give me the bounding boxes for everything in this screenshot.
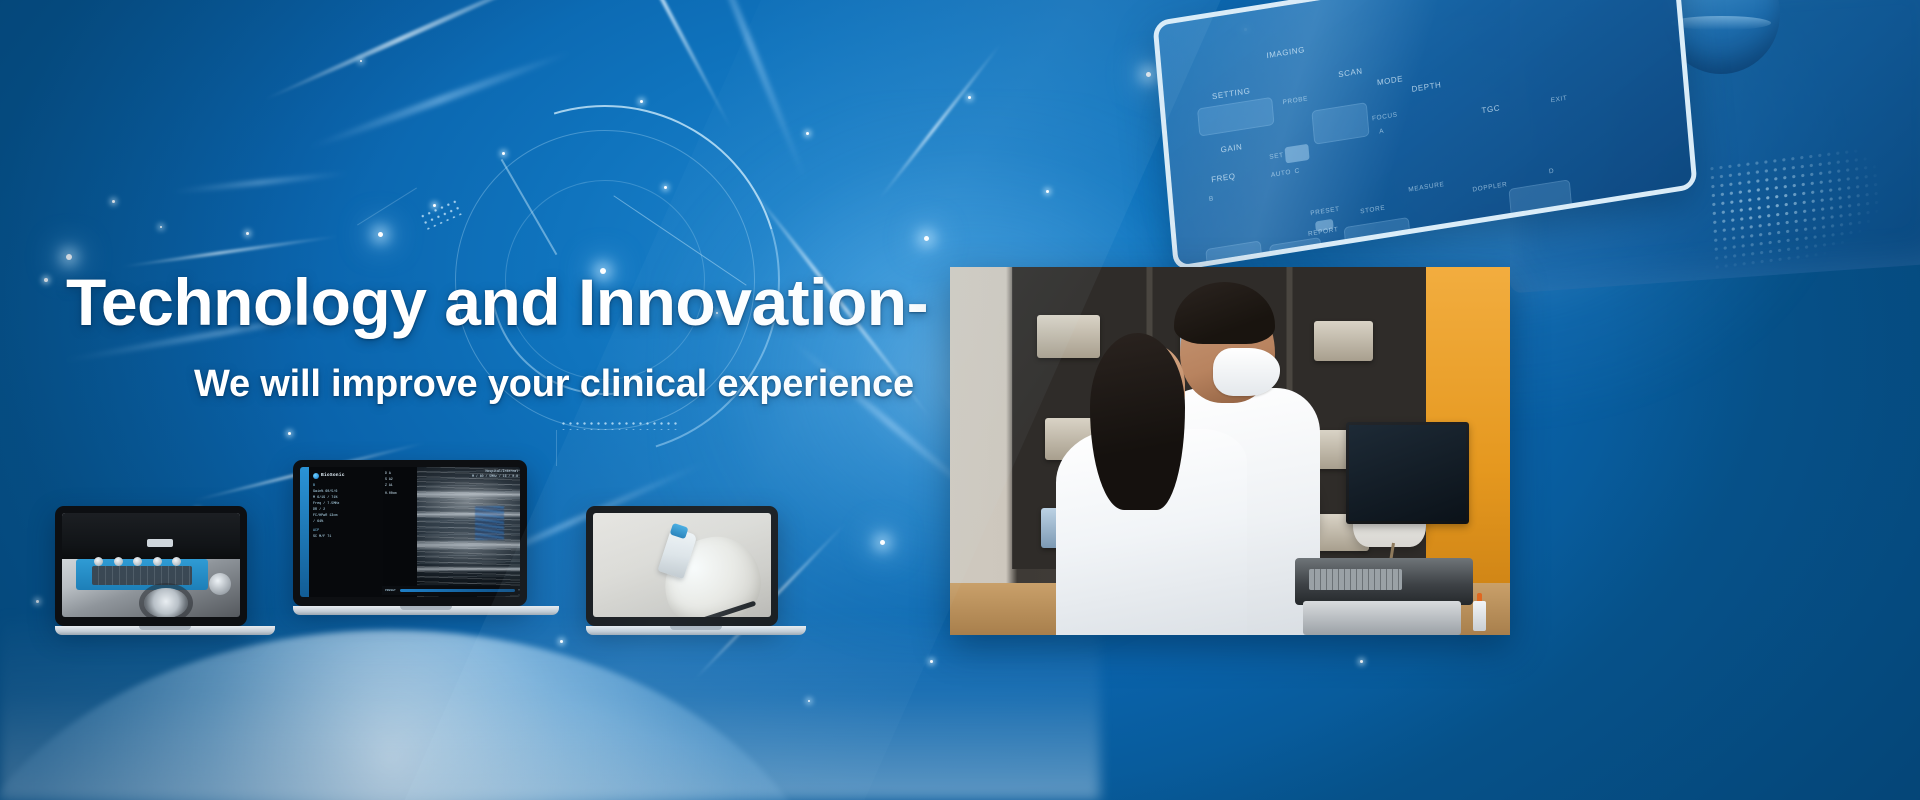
- laptop-scan-mockup: BioSonic B Gain% 60/5/6 M 6/19 / 71% Fre…: [293, 460, 559, 615]
- scan-depth-2: Z A1: [385, 483, 415, 489]
- cart-body: [1303, 601, 1460, 635]
- hud-line-3: [357, 188, 417, 226]
- sparkle-18: [288, 432, 291, 435]
- sparkle-22: [930, 660, 933, 663]
- scan-param-5: / 64%: [313, 520, 379, 526]
- console-side-knob: [209, 573, 231, 595]
- device-label-b: B: [1209, 195, 1214, 203]
- laptop-notch: [139, 626, 191, 630]
- scan-measure-label: 0.00cm: [385, 491, 415, 497]
- light-streak-3: [607, 0, 733, 130]
- light-streak-12: [170, 171, 350, 195]
- scan-status-label: PRESET: [385, 589, 396, 592]
- globe-arc: [0, 630, 840, 800]
- console-monitor: [62, 513, 240, 559]
- scan-depth-panel: D A S A2 Z A1 0.00cm: [383, 467, 417, 597]
- device-vent-dots: [1707, 144, 1883, 274]
- sparkle-25: [1360, 660, 1363, 663]
- laptop-screen: [62, 513, 240, 617]
- scan-progress-bar: [400, 589, 515, 592]
- gel-bottle: [1473, 601, 1486, 631]
- cart-control-panel: [1295, 558, 1474, 605]
- light-streak-4: [691, 0, 810, 184]
- shelf-item-3: [1314, 321, 1373, 360]
- device-label-a: A: [1379, 128, 1384, 136]
- laptop-lid: [55, 506, 247, 626]
- hud-dot-grid-2: [560, 420, 680, 430]
- sparkle-24: [808, 700, 810, 702]
- sparkle-14: [968, 96, 971, 99]
- photo-person-male-mask: [1213, 348, 1280, 396]
- device-label-c: C: [1294, 167, 1300, 175]
- horizon-haze: [0, 610, 1100, 800]
- sparkle-21: [880, 540, 885, 545]
- sparkle-28: [360, 60, 362, 62]
- scan-parameter-panel: BioSonic B Gain% 60/5/6 M 6/19 / 71% Fre…: [309, 467, 383, 597]
- laptop-base: [293, 606, 559, 615]
- device-label-d: D: [1549, 168, 1555, 176]
- console-trackball: [144, 588, 188, 617]
- scan-header-line-1: M / 60 / 5MHz / 16 / 0.8: [472, 474, 518, 479]
- hud-line-1: [501, 159, 558, 255]
- sparkle-4: [160, 226, 162, 228]
- page-subtitle: We will improve your clinical experience: [194, 363, 928, 406]
- scan-status-bar: PRESET: [382, 586, 518, 595]
- laptop-base: [55, 626, 275, 635]
- laptop-console-mockup: [55, 506, 275, 635]
- light-streak-2: [307, 48, 573, 151]
- ultrasound-software-ui: BioSonic B Gain% 60/5/6 M 6/19 / 71% Fre…: [300, 467, 520, 597]
- scan-brand: BioSonic: [313, 472, 379, 480]
- sparkle-27: [640, 100, 643, 103]
- console-button-3: [133, 557, 142, 566]
- sparkle-10: [664, 186, 667, 189]
- console-photo: [62, 513, 240, 617]
- sparkle-3: [112, 200, 115, 203]
- sparkle-7: [433, 204, 436, 207]
- scan-side-accent: [300, 467, 309, 597]
- clinic-photo: [950, 267, 1510, 635]
- scan-section-value: SC M/F 71: [313, 535, 379, 541]
- sparkle-1: [66, 254, 72, 260]
- hero-banner: IMAGING SETTING PROBE SCAN MODE DEPTH FO…: [0, 0, 1920, 800]
- scan-tissue-band-3: [417, 540, 520, 550]
- light-streak-5: [121, 235, 339, 269]
- scan-header-info: Hospital/Internal M / 60 / 5MHz / 16 / 0…: [472, 469, 518, 480]
- sparkle-26: [36, 600, 39, 603]
- brand-logo-icon: [313, 473, 319, 479]
- hud-dot-grid: [418, 197, 464, 231]
- photo-person-female-hair: [1090, 333, 1185, 510]
- sparkle-16: [1146, 72, 1151, 77]
- laptop-screen: [593, 513, 771, 617]
- laptop-notch: [400, 606, 452, 610]
- scan-doppler-overlay: [475, 506, 504, 540]
- laptop-notch: [670, 626, 722, 630]
- sparkle-6: [378, 232, 383, 237]
- laptop-probe-mockup: [586, 506, 806, 635]
- console-button-2: [114, 557, 123, 566]
- sparkle-8: [502, 152, 505, 155]
- scan-tissue-band-1: [417, 490, 520, 499]
- console-button-4: [153, 557, 162, 566]
- sparkle-12: [806, 132, 809, 135]
- light-streak-11: [877, 42, 1002, 201]
- sparkle-5: [246, 232, 249, 235]
- brand-name: BioSonic: [321, 472, 345, 480]
- sparkle-15: [1046, 190, 1049, 193]
- shelf-item-1: [1037, 315, 1100, 357]
- sparkle-2: [44, 278, 48, 282]
- photo-ultrasound-cart: [1286, 422, 1499, 635]
- scan-tissue-band-4: [417, 566, 520, 573]
- laptop-lid: BioSonic B Gain% 60/5/6 M 6/19 / 71% Fre…: [293, 460, 527, 606]
- laptop-screen: BioSonic B Gain% 60/5/6 M 6/19 / 71% Fre…: [300, 467, 520, 597]
- light-streak-1: [263, 0, 567, 102]
- monitor-illustration: IMAGING SETTING PROBE SCAN MODE DEPTH FO…: [1160, 0, 1920, 290]
- sparkle-23: [560, 640, 563, 643]
- device-label-exit: EXIT: [1550, 95, 1567, 105]
- ultrasound-scan-image: Hospital/Internal M / 60 / 5MHz / 16 / 0…: [417, 467, 520, 597]
- cart-monitor: [1346, 422, 1469, 524]
- scan-tissue-band-2: [417, 511, 520, 518]
- sparkle-13: [924, 236, 929, 241]
- laptop-base: [586, 626, 806, 635]
- probe-photo: [593, 513, 771, 617]
- console-button-1: [94, 557, 103, 566]
- console-button-5: [172, 557, 181, 566]
- laptop-lid: [586, 506, 778, 626]
- page-title: Technology and Innovation-: [66, 268, 928, 337]
- hero-copy: Technology and Innovation- We will impro…: [66, 268, 928, 406]
